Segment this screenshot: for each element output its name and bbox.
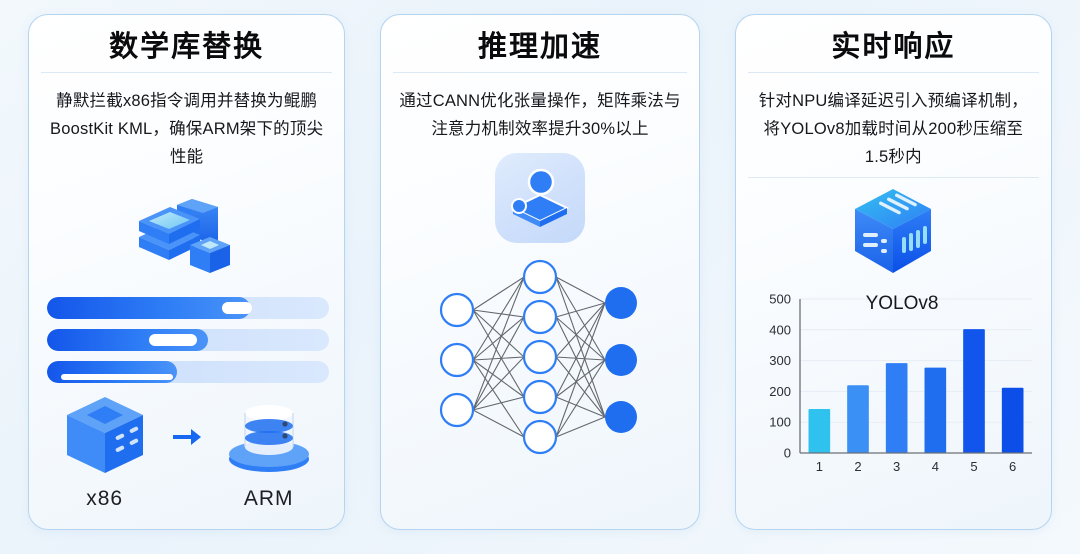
migration-row: x86 bbox=[29, 393, 344, 511]
x-axis-tick-label: 1 bbox=[815, 459, 822, 474]
chart-bar[interactable] bbox=[924, 368, 946, 453]
card-3-illustration: 0100200300400500 123456 YOLOv8 bbox=[736, 175, 1051, 529]
source-arch-label: x86 bbox=[53, 487, 157, 511]
progress-bar-3[interactable] bbox=[47, 361, 329, 383]
arm-database-icon bbox=[223, 393, 315, 479]
chart-bar[interactable] bbox=[885, 363, 907, 453]
migration-target: ARM bbox=[217, 393, 321, 511]
card-title: 数学库替换 bbox=[29, 15, 344, 72]
x-axis-tick-label: 4 bbox=[931, 459, 938, 474]
x-axis-tick-label: 2 bbox=[854, 459, 861, 474]
y-axis-tick-label: 400 bbox=[769, 322, 791, 337]
y-axis-tick-label: 100 bbox=[769, 415, 791, 430]
progress-bar-1[interactable] bbox=[47, 297, 329, 319]
target-arch-label: ARM bbox=[217, 487, 321, 511]
card-2-illustration bbox=[381, 147, 698, 529]
x-axis-tick-label: 3 bbox=[893, 459, 900, 474]
x-axis-tick-label: 6 bbox=[1009, 459, 1016, 474]
chart-bar[interactable] bbox=[963, 329, 985, 453]
chart-bar[interactable] bbox=[847, 385, 869, 453]
neural-network-diagram bbox=[425, 255, 655, 469]
x86-cpu-icon bbox=[59, 393, 151, 479]
migration-source: x86 bbox=[53, 393, 157, 511]
chart-bar[interactable] bbox=[1001, 388, 1023, 453]
y-axis-tick-label: 500 bbox=[769, 292, 791, 307]
card-1-illustration: x86 bbox=[29, 175, 344, 529]
progress-bars-group bbox=[47, 297, 329, 393]
person-layers-icon bbox=[495, 153, 585, 243]
data-cube-icon bbox=[845, 183, 941, 279]
progress-bar-2[interactable] bbox=[47, 329, 329, 351]
card-realtime-response[interactable]: 实时响应 针对NPU编译延迟引入预编译机制，将YOLOv8加载时间从200秒压缩… bbox=[735, 14, 1052, 530]
y-axis-tick-label: 0 bbox=[783, 446, 790, 461]
card-body-text: 针对NPU编译延迟引入预编译机制，将YOLOv8加载时间从200秒压缩至1.5秒… bbox=[736, 73, 1051, 175]
chart-bar[interactable] bbox=[808, 409, 830, 453]
yolov8-bar-chart: 0100200300400500 123456 YOLOv8 bbox=[742, 287, 1048, 485]
y-axis-tick-label: 300 bbox=[769, 353, 791, 368]
card-title: 实时响应 bbox=[736, 15, 1051, 72]
section-divider bbox=[748, 177, 1039, 178]
x-axis-tick-label: 5 bbox=[970, 459, 977, 474]
chart-title: YOLOv8 bbox=[865, 293, 938, 314]
card-body-text: 静默拦截x86指令调用并替换为鲲鹏BoostKit KML，确保ARM架下的顶尖… bbox=[29, 73, 344, 175]
arrow-right-icon bbox=[171, 425, 203, 454]
y-axis-tick-label: 200 bbox=[769, 384, 791, 399]
cards-board: 数学库替换 静默拦截x86指令调用并替换为鲲鹏BoostKit KML，确保AR… bbox=[0, 0, 1080, 554]
card-title: 推理加速 bbox=[381, 15, 698, 72]
isometric-layers-icon bbox=[122, 193, 252, 289]
card-inference-acceleration[interactable]: 推理加速 通过CANN优化张量操作，矩阵乘法与注意力机制效率提升30%以上 bbox=[380, 14, 699, 530]
card-body-text: 通过CANN优化张量操作，矩阵乘法与注意力机制效率提升30%以上 bbox=[381, 73, 698, 147]
card-math-library-replacement[interactable]: 数学库替换 静默拦截x86指令调用并替换为鲲鹏BoostKit KML，确保AR… bbox=[28, 14, 345, 530]
